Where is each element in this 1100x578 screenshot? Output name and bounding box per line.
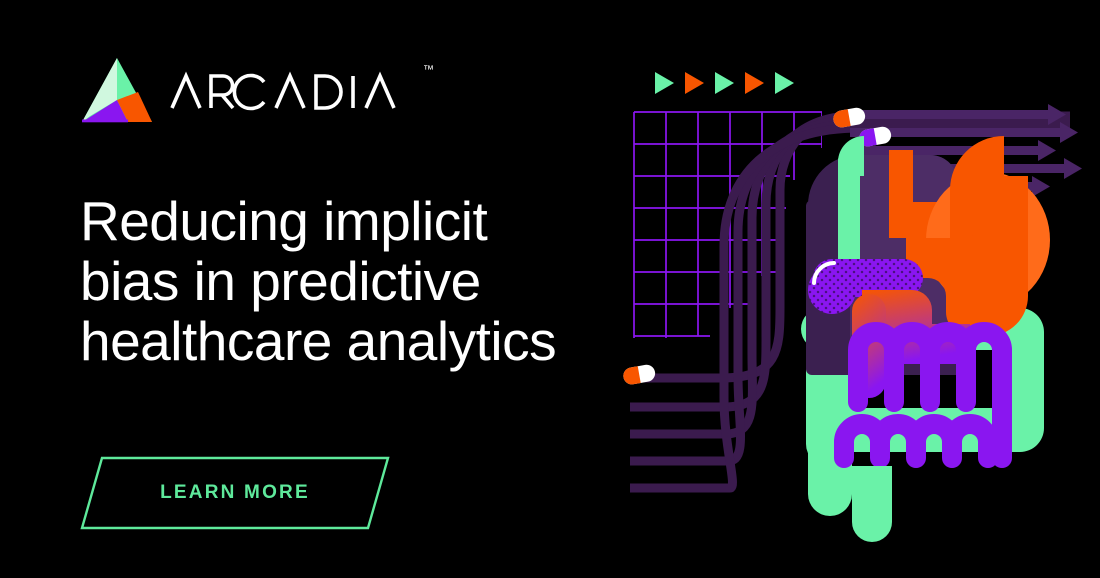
illustration-svg xyxy=(600,50,1100,550)
arcadia-wordmark-icon xyxy=(170,70,420,112)
liver-divider-cap xyxy=(838,136,864,176)
brand-logo-lockup[interactable]: ™ xyxy=(80,55,420,127)
headline-line-1: Reducing implicit xyxy=(80,192,620,252)
rectum xyxy=(852,466,892,542)
content-column: ™ Reducing implicit bias in predictive h… xyxy=(0,0,620,578)
cta-parallelogram-outline xyxy=(80,456,390,530)
digestive-system-illustration xyxy=(600,50,1100,550)
brand-wordmark: ™ xyxy=(170,56,420,126)
play-arrow-icon-3 xyxy=(715,72,734,94)
track-left-mask xyxy=(600,50,630,550)
promo-banner: ™ Reducing implicit bias in predictive h… xyxy=(0,0,1100,578)
play-arrow-icon-5 xyxy=(775,72,794,94)
play-arrow-icon-1 xyxy=(655,72,674,94)
arcadia-triangle-logo-icon xyxy=(80,56,154,126)
learn-more-button[interactable]: LEARN MORE xyxy=(80,456,390,530)
play-arrow-icon-2 xyxy=(685,72,704,94)
play-arrow-icon-4 xyxy=(745,72,764,94)
headline-line-3: healthcare analytics xyxy=(80,312,620,372)
trademark-symbol: ™ xyxy=(423,64,434,76)
play-arrow-markers xyxy=(655,72,794,94)
headline-line-2: bias in predictive xyxy=(80,252,620,312)
page-title: Reducing implicit bias in predictive hea… xyxy=(80,192,620,372)
